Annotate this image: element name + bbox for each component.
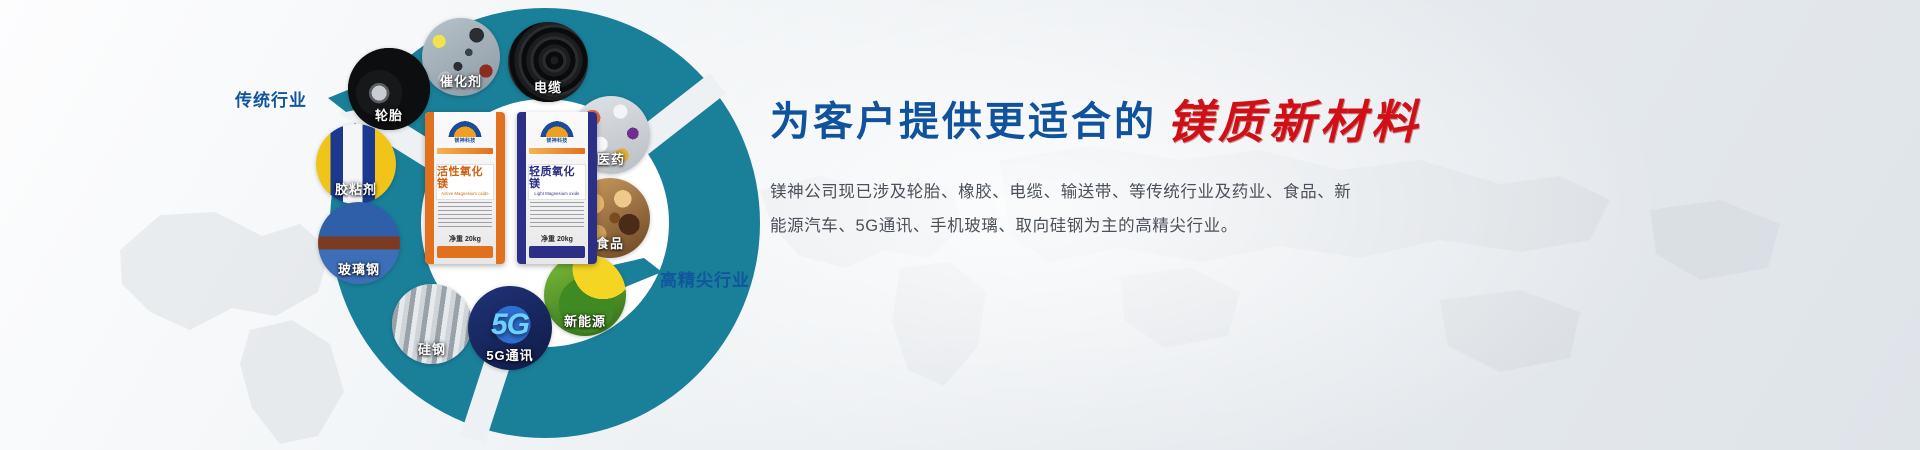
- package-footer-band: [529, 246, 585, 258]
- package-name-block: 轻质氧化镁 Light Magnesium oxide: [528, 164, 586, 200]
- package-name-en: Light Magnesium oxide: [534, 192, 579, 197]
- bubble-label-catalyst: 催化剂: [422, 75, 500, 88]
- bubble-label-silicon-steel: 硅钢: [392, 343, 472, 356]
- package-spec-lines: [530, 202, 584, 228]
- bubble-label-adhesive: 胶粘剂: [316, 183, 396, 196]
- package-name-cn: 活性氧化镁: [437, 167, 493, 190]
- package-weight: 净重 20kg: [425, 234, 505, 244]
- package-weight: 净重 20kg: [517, 234, 597, 244]
- description-paragraph: 镁神公司现已涉及轮胎、橡胶、电缆、输送带、等传统行业及药业、食品、新 能源汽车、…: [770, 176, 1370, 244]
- bubble-frp[interactable]: 玻璃钢: [318, 202, 400, 284]
- package-spec-lines: [438, 202, 492, 228]
- bubble-label-tire: 轮胎: [348, 109, 430, 122]
- product-packages: 镁神科技 活性氧化镁 Active Magnesium oxide 净重 20k…: [421, 112, 609, 318]
- bubble-catalyst[interactable]: 催化剂: [422, 18, 500, 96]
- package-light-magnesium-oxide[interactable]: 镁神科技 轻质氧化镁 Light Magnesium oxide 净重 20kg: [517, 112, 597, 264]
- bubble-adhesive[interactable]: 胶粘剂: [316, 124, 396, 204]
- promo-banner: 传统行业 高精尖行业 催化剂 电缆 轮胎 医药: [0, 0, 1920, 450]
- bubble-label-5g: 5G通讯: [468, 349, 552, 362]
- package-brand: 镁神科技: [425, 137, 505, 144]
- headline: 为客户提供更适合的 镁质新材料: [770, 96, 1610, 142]
- package-ribbon: [437, 148, 493, 154]
- banner-copy: 为客户提供更适合的 镁质新材料 镁神公司现已涉及轮胎、橡胶、电缆、输送带、等传统…: [770, 96, 1610, 244]
- package-name-en: Active Magnesium oxide: [441, 192, 489, 197]
- wedge-label-high-tech: 高精尖行业: [660, 266, 750, 291]
- bubble-tire[interactable]: 轮胎: [348, 48, 430, 130]
- wedge-label-traditional: 传统行业: [235, 86, 307, 111]
- package-ribbon: [529, 148, 585, 154]
- bubble-label-cable: 电缆: [508, 81, 588, 94]
- brand-logo-icon: [448, 121, 482, 137]
- package-footer-band: [437, 246, 493, 258]
- package-name-block: 活性氧化镁 Active Magnesium oxide: [436, 164, 494, 200]
- headline-blue-text: 为客户提供更适合的: [770, 102, 1157, 142]
- package-brand: 镁神科技: [517, 137, 597, 144]
- bubble-label-frp: 玻璃钢: [318, 263, 400, 276]
- package-name-cn: 轻质氧化镁: [529, 167, 585, 190]
- brand-logo-icon: [540, 121, 574, 137]
- package-active-magnesium-oxide[interactable]: 镁神科技 活性氧化镁 Active Magnesium oxide 净重 20k…: [425, 112, 505, 264]
- headline-red-calligraphy: 镁质新材料: [1167, 99, 1422, 145]
- description-line-2: 能源汽车、5G通讯、手机玻璃、取向硅钢为主的高精尖行业。: [770, 210, 1370, 244]
- bubble-cable[interactable]: 电缆: [508, 22, 588, 102]
- description-line-1: 镁神公司现已涉及轮胎、橡胶、电缆、输送带、等传统行业及药业、食品、新: [770, 176, 1370, 210]
